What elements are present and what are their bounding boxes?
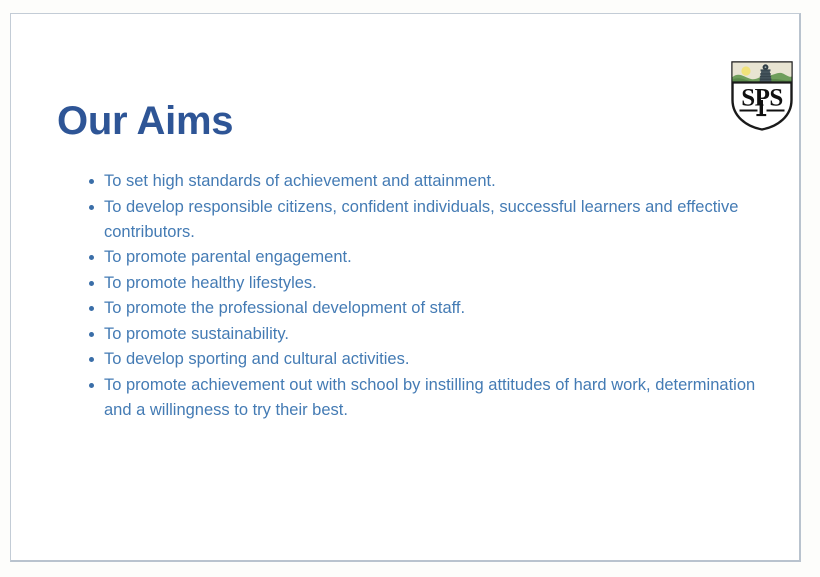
aims-list: To set high standards of achievement and…: [73, 169, 763, 423]
bullet-point-icon: [89, 332, 94, 337]
list-item-label: To promote the professional development …: [104, 299, 465, 317]
slide-page: Our Aims To set high standards of achiev…: [0, 0, 820, 577]
bullet-point-icon: [89, 281, 94, 286]
bullet-point-icon: [89, 179, 94, 184]
list-item-label: To promote achievement out with school b…: [104, 376, 755, 419]
list-item: To promote healthy lifestyles.: [73, 271, 763, 296]
list-item: To promote parental engagement.: [73, 245, 763, 270]
bullet-point-icon: [89, 205, 94, 210]
list-item: To promote achievement out with school b…: [73, 373, 763, 423]
bullet-point-icon: [89, 255, 94, 260]
list-item: To promote the professional development …: [73, 296, 763, 321]
school-crest-icon: SPS: [730, 60, 794, 132]
list-item-label: To develop responsible citizens, confide…: [104, 198, 738, 241]
list-item: To develop responsible citizens, confide…: [73, 195, 763, 245]
list-item: To promote sustainability.: [73, 322, 763, 347]
list-item-label: To promote sustainability.: [104, 325, 289, 343]
slide-frame: Our Aims To set high standards of achiev…: [10, 13, 801, 562]
bullet-point-icon: [89, 383, 94, 388]
list-item: To set high standards of achievement and…: [73, 169, 763, 194]
list-item-label: To promote healthy lifestyles.: [104, 274, 317, 292]
bullet-point-icon: [89, 306, 94, 311]
list-item-label: To set high standards of achievement and…: [104, 172, 496, 190]
list-item-label: To promote parental engagement.: [104, 248, 352, 266]
list-item-label: To develop sporting and cultural activit…: [104, 350, 409, 368]
list-item: To develop sporting and cultural activit…: [73, 347, 763, 372]
bullet-point-icon: [89, 357, 94, 362]
page-title: Our Aims: [57, 100, 233, 142]
